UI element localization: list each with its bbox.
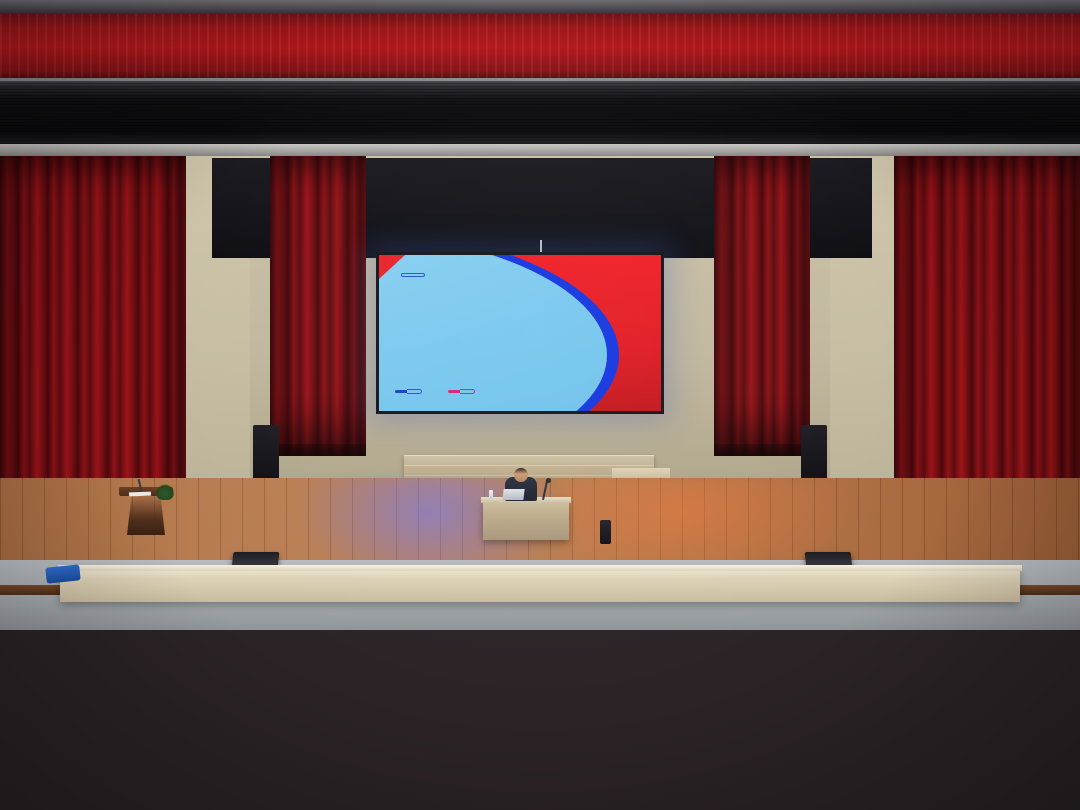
curtain-hem xyxy=(270,444,366,456)
presenter-table xyxy=(483,500,569,540)
stage-curtain-right-inner xyxy=(714,156,810,456)
slide-time-label xyxy=(448,390,460,393)
projection-screen xyxy=(376,252,664,414)
stage-curtain-left-inner xyxy=(270,156,366,456)
stage-floor-case xyxy=(600,520,611,544)
led-banner xyxy=(0,78,1080,144)
slide-speaker-label xyxy=(395,390,407,393)
slide-meta-row xyxy=(395,389,475,394)
slide-speaker-pill xyxy=(395,389,422,394)
slide-speaker-name xyxy=(407,389,422,394)
front-head-table-top xyxy=(58,565,1022,571)
conference-hall-photo xyxy=(0,0,1080,810)
audience-seating xyxy=(0,588,1080,810)
slide-year-badge xyxy=(401,273,425,277)
podium-plant xyxy=(156,484,174,500)
side-podium xyxy=(119,487,173,535)
ceiling-band xyxy=(0,0,1080,14)
podium-body xyxy=(127,495,165,535)
podium-papers xyxy=(129,492,151,497)
presenter-laptop xyxy=(502,489,524,500)
stage-equipment-right xyxy=(801,425,827,483)
presenter-water-bottle xyxy=(489,490,493,499)
slide-time-value xyxy=(460,389,475,394)
curtain-hem xyxy=(714,444,810,456)
red-stage-backdrop xyxy=(0,8,1080,80)
slide-time-pill xyxy=(448,389,475,394)
presenter-head xyxy=(514,468,528,482)
stage-equipment-left xyxy=(253,425,279,483)
presenter-microphone xyxy=(546,478,551,483)
presentation-slide xyxy=(379,255,661,411)
